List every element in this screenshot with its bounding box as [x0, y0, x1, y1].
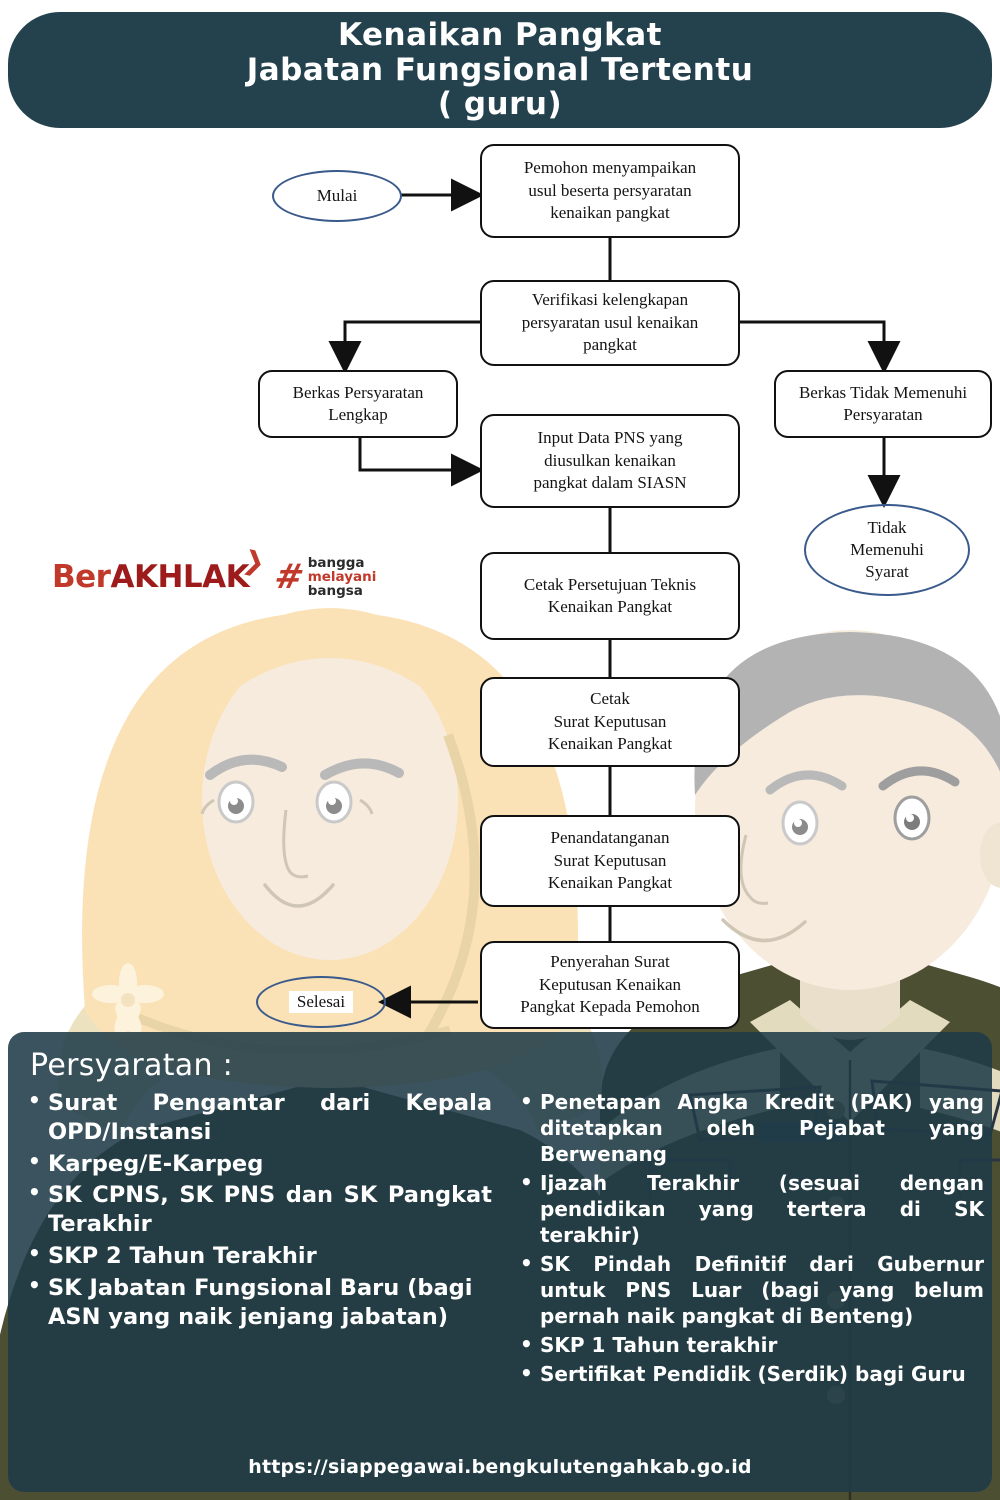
page-title: Kenaikan Pangkat Jabatan Fungsional Tert…	[247, 18, 754, 122]
flow-node-deliver-decree: Penyerahan Surat Keputusan Kenaikan Pang…	[480, 941, 740, 1029]
flow-node-rejected: Tidak Memenuhi Syarat	[804, 504, 970, 596]
flow-node-verification-label: Verifikasi kelengkapan persyaratan usul …	[522, 289, 699, 356]
footer-url[interactable]: https://siappegawai.bengkulutengahkab.go…	[0, 1456, 1000, 1478]
flow-node-start: Mulai	[272, 170, 402, 222]
logo-ber-text: Ber	[52, 559, 110, 595]
requirements-title: Persyaratan :	[30, 1048, 984, 1083]
berakhlak-wordmark: BerAKHLAK ❯	[52, 562, 249, 593]
flow-node-input-siasn-label: Input Data PNS yang diusulkan kenaikan p…	[534, 427, 687, 494]
list-item: Karpeg/E-Karpeg	[16, 1150, 492, 1179]
flow-node-documents-incomplete: Berkas Tidak Memenuhi Persyaratan	[774, 370, 992, 438]
requirements-right-column: Penetapan Angka Kredit (PAK) yang diteta…	[508, 1089, 984, 1390]
list-item: SK Jabatan Fungsional Baru (bagi ASN yan…	[16, 1274, 492, 1332]
logo-tagline: bangga melayani bangsa	[308, 556, 377, 599]
flowchart: Mulai Pemohon menyampaikan usul beserta …	[0, 0, 1000, 1040]
berakhlak-logo: BerAKHLAK ❯ # bangga melayani bangsa	[52, 556, 376, 599]
flow-node-print-technical-approval-label: Cetak Persetujuan Teknis Kenaikan Pangka…	[524, 574, 696, 619]
requirements-panel: Persyaratan : Surat Pengantar dari Kepal…	[8, 1032, 992, 1492]
list-item: SKP 1 Tahun terakhir	[508, 1332, 984, 1358]
requirements-left-column: Surat Pengantar dari Kepala OPD/Instansi…	[16, 1089, 492, 1390]
hash-icon: #	[272, 560, 308, 594]
flow-node-end: Selesai	[256, 976, 386, 1028]
list-item: SK Pindah Definitif dari Gubernur untuk …	[508, 1251, 984, 1329]
logo-tagline-line1: bangga	[308, 556, 377, 570]
flow-node-end-label: Selesai	[289, 991, 353, 1013]
logo-tagline-line3: bangsa	[308, 584, 377, 598]
flow-node-start-label: Mulai	[309, 185, 366, 207]
list-item: SKP 2 Tahun Terakhir	[16, 1242, 492, 1271]
flow-node-print-decree: Cetak Surat Keputusan Kenaikan Pangkat	[480, 677, 740, 767]
flow-node-submit-application: Pemohon menyampaikan usul beserta persya…	[480, 144, 740, 238]
flow-node-print-decree-label: Cetak Surat Keputusan Kenaikan Pangkat	[548, 688, 672, 755]
list-item: SK CPNS, SK PNS dan SK Pangkat Terakhir	[16, 1181, 492, 1239]
flow-node-rejected-label: Tidak Memenuhi Syarat	[842, 517, 932, 583]
chevron-icon: ❯	[240, 547, 266, 577]
list-item: Sertifikat Pendidik (Serdik) bagi Guru	[508, 1361, 984, 1387]
flow-node-deliver-decree-label: Penyerahan Surat Keputusan Kenaikan Pang…	[520, 951, 699, 1018]
flow-node-documents-incomplete-label: Berkas Tidak Memenuhi Persyaratan	[799, 382, 967, 427]
flow-node-documents-complete-label: Berkas Persyaratan Lengkap	[293, 382, 424, 427]
list-item: Penetapan Angka Kredit (PAK) yang diteta…	[508, 1089, 984, 1167]
logo-akhlak-text: AKHLAK	[110, 559, 249, 595]
list-item: Surat Pengantar dari Kepala OPD/Instansi	[16, 1089, 492, 1147]
page-header: Kenaikan Pangkat Jabatan Fungsional Tert…	[8, 12, 992, 128]
flow-node-input-siasn: Input Data PNS yang diusulkan kenaikan p…	[480, 414, 740, 508]
flow-node-documents-complete: Berkas Persyaratan Lengkap	[258, 370, 458, 438]
flow-node-print-technical-approval: Cetak Persetujuan Teknis Kenaikan Pangka…	[480, 552, 740, 640]
bangga-melayani-bangsa-mark: # bangga melayani bangsa	[275, 556, 376, 599]
flow-node-sign-decree-label: Penandatanganan Surat Keputusan Kenaikan…	[548, 827, 672, 894]
list-item: Ijazah Terakhir (sesuai dengan pendidika…	[508, 1170, 984, 1248]
flow-node-verification: Verifikasi kelengkapan persyaratan usul …	[480, 280, 740, 366]
infographic-canvas: Kenaikan Pangkat Jabatan Fungsional Tert…	[0, 0, 1000, 1500]
logo-tagline-line2: melayani	[308, 570, 377, 584]
flow-node-submit-application-label: Pemohon menyampaikan usul beserta persya…	[524, 157, 696, 224]
flow-node-sign-decree: Penandatanganan Surat Keputusan Kenaikan…	[480, 815, 740, 907]
